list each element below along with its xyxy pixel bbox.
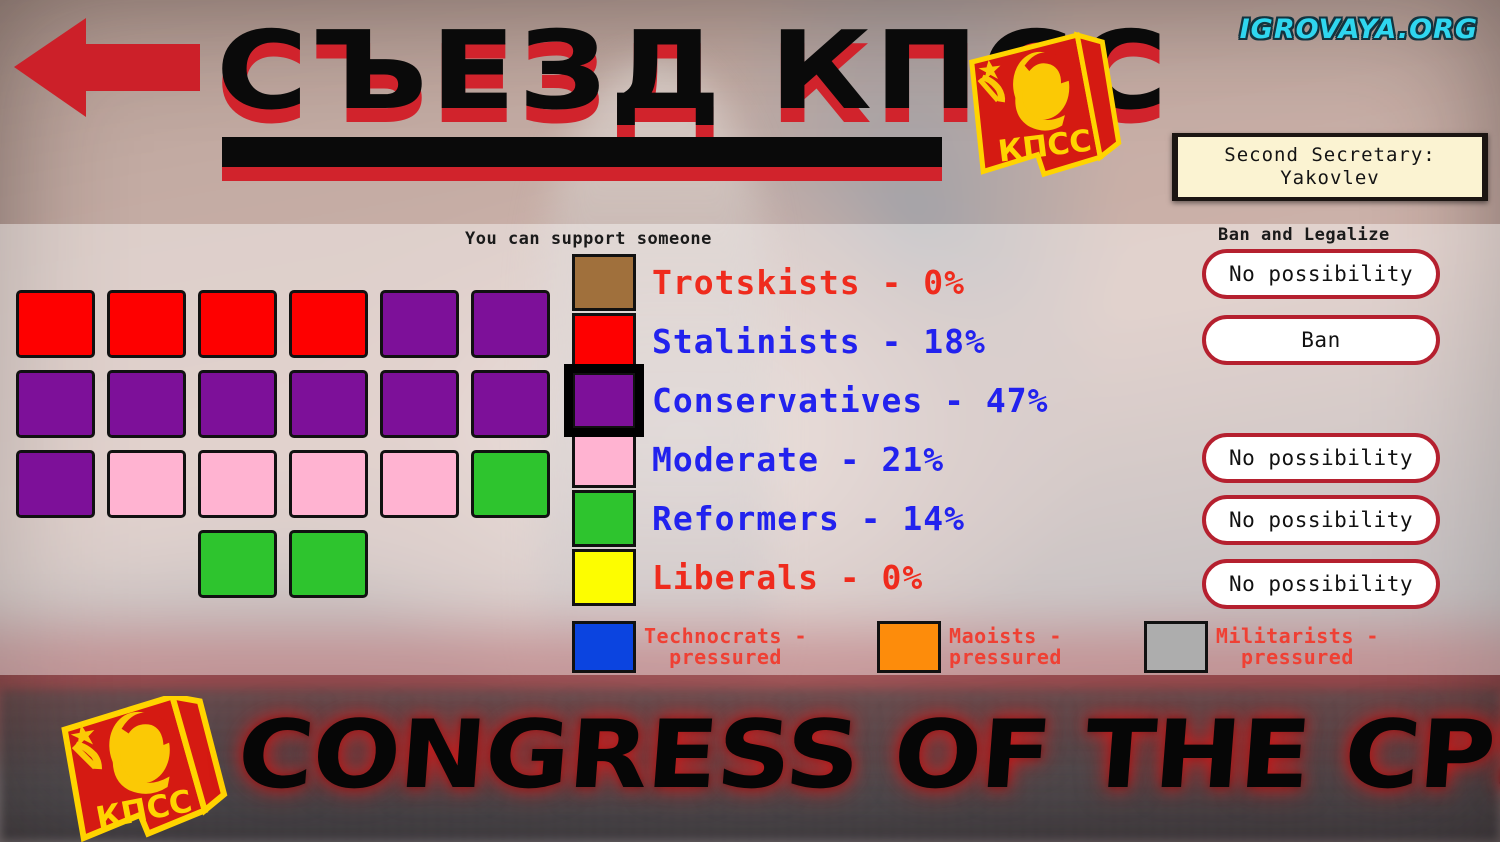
pressured-label-militarists: Militarists - pressured — [1216, 626, 1379, 668]
kpss-banner-badge-bottom: КПСС — [50, 696, 230, 842]
delegate-cell[interactable] — [107, 290, 186, 358]
faction-label-conservatives: Conservatives - 47% — [652, 381, 1049, 420]
pressured-groups-row: Technocrats - pressuredMaoists - pressur… — [572, 621, 1379, 673]
delegate-grid-row — [16, 450, 550, 518]
pressured-swatch-maoists — [877, 621, 941, 673]
pressured-label-technocrats: Technocrats - pressured — [644, 626, 807, 668]
delegate-cell[interactable] — [198, 530, 277, 598]
pressured-item: Militarists - pressured — [1144, 621, 1379, 673]
page-title-ru-text: СЪЕЗД КПСС — [216, 18, 1074, 126]
delegate-cell-empty — [471, 530, 550, 598]
faction-row: Liberals - 0% — [572, 548, 1049, 607]
delegate-cell-empty — [107, 530, 186, 598]
delegate-cell[interactable] — [289, 290, 368, 358]
action-button-moderate[interactable]: No possibility — [1202, 433, 1440, 483]
delegate-cell[interactable] — [16, 290, 95, 358]
faction-label-reformers: Reformers - 14% — [652, 499, 965, 538]
faction-label-stalinists: Stalinists - 18% — [652, 322, 986, 361]
game-screen: СЪЕЗД КПСС КПСС IGROVAYA.ORG Second Secr… — [0, 0, 1500, 842]
delegate-cell[interactable] — [198, 290, 277, 358]
pressured-item: Technocrats - pressured — [572, 621, 807, 673]
action-button-stalinists[interactable]: Ban — [1202, 315, 1440, 365]
site-watermark: IGROVAYA.ORG — [1240, 14, 1478, 45]
faction-swatch-stalinists[interactable] — [572, 313, 636, 370]
delegate-cell[interactable] — [16, 450, 95, 518]
delegate-grid-row — [16, 530, 550, 598]
second-secretary-text: Second Secretary: Yakovlev — [1178, 137, 1482, 197]
delegate-cell[interactable] — [380, 370, 459, 438]
delegate-cell[interactable] — [380, 290, 459, 358]
delegate-cell[interactable] — [107, 370, 186, 438]
faction-row: Reformers - 14% — [572, 489, 1049, 548]
title-underline-red — [222, 167, 942, 181]
faction-row: Conservatives - 47% — [572, 371, 1049, 430]
faction-swatch-liberals[interactable] — [572, 549, 636, 606]
pressured-swatch-militarists — [1144, 621, 1208, 673]
delegate-cell[interactable] — [471, 290, 550, 358]
delegate-cell[interactable] — [289, 370, 368, 438]
faction-swatch-reformers[interactable] — [572, 490, 636, 547]
back-arrow-icon[interactable] — [12, 14, 202, 118]
action-button-reformers[interactable]: No possibility — [1202, 495, 1440, 545]
delegate-cell-empty — [16, 530, 95, 598]
faction-swatch-conservatives[interactable] — [572, 372, 636, 429]
faction-row: Stalinists - 18% — [572, 312, 1049, 371]
faction-legend: Trotskists - 0%Stalinists - 18%Conservat… — [572, 253, 1049, 607]
delegate-cell[interactable] — [289, 530, 368, 598]
delegate-cell[interactable] — [198, 370, 277, 438]
delegate-cell-empty — [380, 530, 459, 598]
faction-swatch-moderate[interactable] — [572, 431, 636, 488]
second-secretary-plate: Second Secretary: Yakovlev — [1172, 133, 1488, 201]
delegate-grid-row — [16, 290, 550, 358]
kpss-banner-badge-top: КПСС — [958, 24, 1124, 194]
pressured-label-maoists: Maoists - pressured — [949, 626, 1062, 668]
delegate-grid-row — [16, 370, 550, 438]
delegate-cell[interactable] — [16, 370, 95, 438]
faction-row: Trotskists - 0% — [572, 253, 1049, 312]
delegate-cell[interactable] — [107, 450, 186, 518]
faction-label-moderate: Moderate - 21% — [652, 440, 944, 479]
delegate-cell[interactable] — [380, 450, 459, 518]
action-button-liberals[interactable]: No possibility — [1202, 559, 1440, 609]
action-button-trotskists[interactable]: No possibility — [1202, 249, 1440, 299]
faction-label-liberals: Liberals - 0% — [652, 558, 923, 597]
delegate-grid — [16, 290, 550, 610]
delegate-cell[interactable] — [289, 450, 368, 518]
title-underline-black — [222, 137, 942, 167]
pressured-item: Maoists - pressured — [877, 621, 1062, 673]
pressured-swatch-technocrats — [572, 621, 636, 673]
delegate-cell[interactable] — [471, 450, 550, 518]
page-title-en: CONGRESS OF THE CPSU — [238, 700, 1498, 820]
delegate-cell[interactable] — [198, 450, 277, 518]
support-hint-label: You can support someone — [465, 229, 712, 249]
faction-row: Moderate - 21% — [572, 430, 1049, 489]
faction-label-trotskists: Trotskists - 0% — [652, 263, 965, 302]
faction-swatch-trotskists[interactable] — [572, 254, 636, 311]
ban-legalize-hint-label: Ban and Legalize — [1218, 225, 1390, 245]
page-title-en-text: CONGRESS OF THE CPSU — [234, 700, 1500, 812]
delegate-cell[interactable] — [471, 370, 550, 438]
